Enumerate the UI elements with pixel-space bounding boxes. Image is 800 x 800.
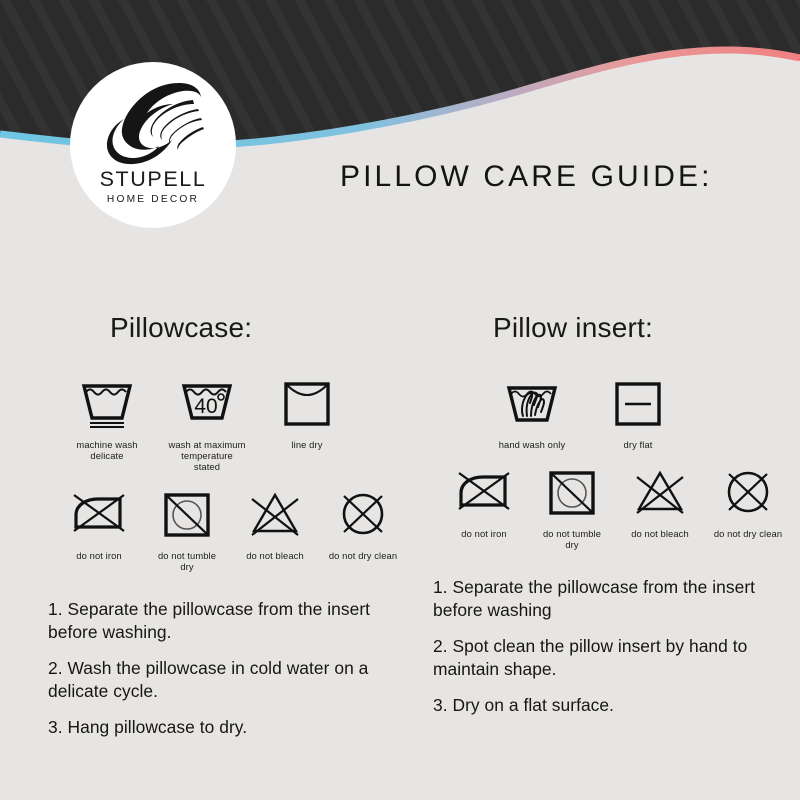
symbol-do-not-iron: do not iron (447, 463, 521, 539)
symbol-dry-flat: dry flat (599, 374, 677, 450)
do-not-dry-clean-icon (717, 463, 779, 521)
symbol-caption: machine wash delicate (76, 439, 137, 461)
pillow-care-guide-page: STUPELL HOME DECOR PILLOW CARE GUIDE: Pi… (0, 0, 800, 800)
instructions-pillowcase: 1. Separate the pillowcase from the inse… (40, 598, 400, 739)
symbol-row-prohibitions-pillowcase: do not iron do not tumble dry (40, 485, 400, 572)
instruction-item: 1. Separate the pillowcase from the inse… (433, 576, 785, 622)
symbol-line-dry: line dry (268, 374, 346, 450)
logo-name: STUPELL (100, 169, 207, 191)
instruction-item: 1. Separate the pillowcase from the inse… (48, 598, 400, 644)
wash-max-temperature-icon: 40 (176, 374, 238, 432)
do-not-tumble-dry-icon (541, 463, 603, 521)
symbol-caption: do not dry clean (329, 550, 397, 561)
symbol-row-wash-pillowcase: machine wash delicate 40 wash at maximum… (40, 374, 400, 472)
symbol-do-not-iron: do not iron (62, 485, 136, 561)
do-not-iron-icon (68, 485, 130, 543)
symbol-caption: do not bleach (246, 550, 304, 561)
instruction-item: 2. Spot clean the pillow insert by hand … (433, 635, 785, 681)
symbol-caption: line dry (291, 439, 322, 450)
do-not-iron-icon (453, 463, 515, 521)
do-not-bleach-icon (244, 485, 306, 543)
section-pillowcase: Pillowcase: machine wash delicate (40, 312, 400, 739)
symbol-caption: hand wash only (499, 439, 566, 450)
section-heading-pillowcase: Pillowcase: (40, 312, 400, 344)
symbol-do-not-dry-clean: do not dry clean (711, 463, 785, 539)
symbol-do-not-bleach: do not bleach (238, 485, 312, 561)
line-dry-icon (276, 374, 338, 432)
do-not-dry-clean-icon (332, 485, 394, 543)
symbol-caption: wash at maximum temperature stated (168, 439, 246, 472)
symbol-caption: do not dry clean (714, 528, 782, 539)
logo-subtitle: HOME DECOR (107, 195, 199, 205)
svg-text:40: 40 (194, 395, 217, 418)
symbol-caption: do not tumble dry (150, 550, 224, 572)
symbol-row-prohibitions-insert: do not iron do not tumble dry (425, 463, 785, 550)
logo-badge: STUPELL HOME DECOR (70, 62, 236, 228)
symbol-caption: do not iron (461, 528, 506, 539)
symbol-caption: dry flat (624, 439, 653, 450)
page-title: PILLOW CARE GUIDE: (340, 160, 713, 194)
symbol-caption: do not tumble dry (535, 528, 609, 550)
symbol-caption: do not bleach (631, 528, 689, 539)
symbol-wash-max-temperature: 40 wash at maximum temperature stated (168, 374, 246, 472)
stupell-swoosh-icon (101, 80, 205, 166)
symbol-do-not-dry-clean: do not dry clean (326, 485, 400, 561)
dry-flat-icon (607, 374, 669, 432)
machine-wash-delicate-icon (76, 374, 138, 432)
instruction-item: 2. Wash the pillowcase in cold water on … (48, 657, 400, 703)
symbol-do-not-tumble-dry: do not tumble dry (150, 485, 224, 572)
section-heading-pillow-insert: Pillow insert: (425, 312, 785, 344)
section-pillow-insert: Pillow insert: hand wash o (425, 312, 785, 717)
symbol-do-not-bleach: do not bleach (623, 463, 697, 539)
hand-wash-only-icon (501, 374, 563, 432)
symbol-do-not-tumble-dry: do not tumble dry (535, 463, 609, 550)
instructions-pillow-insert: 1. Separate the pillowcase from the inse… (425, 576, 785, 717)
instruction-item: 3. Hang pillowcase to dry. (48, 716, 400, 739)
instruction-item: 3. Dry on a flat surface. (433, 694, 785, 717)
symbol-row-wash-insert: hand wash only dry flat (425, 374, 785, 450)
symbol-caption: do not iron (76, 550, 121, 561)
do-not-tumble-dry-icon (156, 485, 218, 543)
do-not-bleach-icon (629, 463, 691, 521)
symbol-machine-wash-delicate: machine wash delicate (68, 374, 146, 461)
symbol-hand-wash-only: hand wash only (493, 374, 571, 450)
